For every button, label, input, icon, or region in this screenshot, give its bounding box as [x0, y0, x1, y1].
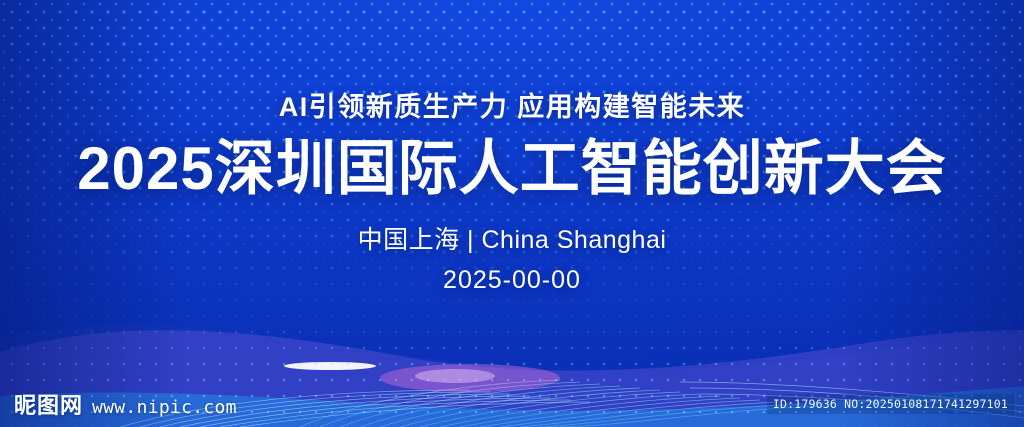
nipic-logo-text: 昵图网: [14, 388, 83, 420]
poster-headline: 2025深圳国际人工智能创新大会: [0, 137, 1024, 200]
poster-banner: 0%" stop-color="#4a49c8"/> 55%" stop-col…: [0, 0, 1024, 427]
poster-subtitle: AI引领新质生产力 应用构建智能未来: [0, 94, 1024, 121]
poster-content: AI引领新质生产力 应用构建智能未来 2025深圳国际人工智能创新大会 中国上海…: [0, 0, 1024, 296]
poster-date: 2025-00-00: [0, 264, 1024, 297]
nipic-logo[interactable]: 昵图网 www.nipic.com: [14, 388, 237, 420]
nipic-url-text: www.nipic.com: [92, 397, 237, 418]
poster-venue: 中国上海 | China Shanghai: [0, 224, 1024, 258]
image-id-text: ID:179636 NO:20250108171741297101: [767, 394, 1014, 414]
watermark-bar: 昵图网 www.nipic.com ID:179636 NO:202501081…: [0, 381, 1024, 427]
